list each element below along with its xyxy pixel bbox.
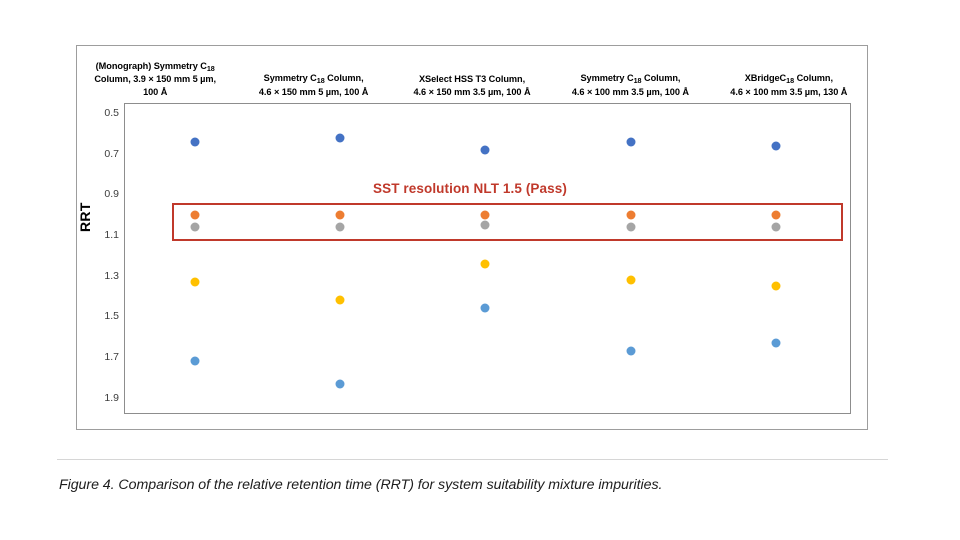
figure-caption: Figure 4. Comparison of the relative ret… — [59, 477, 889, 493]
column-headers: (Monograph) Symmetry C18Column, 3.9 × 15… — [76, 52, 868, 98]
column-header-2: Symmetry C18 Column,4.6 × 150 mm 5 µm, 1… — [234, 72, 392, 98]
column-header-3: XSelect HSS T3 Column,4.6 × 150 mm 3.5 µ… — [393, 73, 551, 98]
data-point — [626, 346, 635, 355]
sst-pass-label: SST resolution NLT 1.5 (Pass) — [373, 181, 567, 196]
y-tick-label: 1.5 — [80, 310, 124, 322]
column-header-5: XBridgeC18 Column,4.6 × 100 mm 3.5 µm, 1… — [710, 72, 868, 98]
sst-pass-box — [172, 203, 843, 242]
y-tick-label: 1.3 — [80, 270, 124, 282]
y-tick-label: 0.5 — [80, 107, 124, 119]
data-point — [190, 277, 199, 286]
data-point — [481, 145, 490, 154]
data-point — [481, 259, 490, 268]
y-tick-label: 0.9 — [80, 188, 124, 200]
data-point — [335, 379, 344, 388]
data-point — [190, 137, 199, 146]
data-point — [190, 357, 199, 366]
figure-divider — [57, 459, 888, 460]
y-axis-title: RRT — [77, 202, 93, 232]
data-point — [772, 281, 781, 290]
data-point — [335, 296, 344, 305]
data-point — [772, 338, 781, 347]
data-point — [772, 141, 781, 150]
y-tick-label: 1.7 — [80, 351, 124, 363]
column-header-4: Symmetry C18 Column,4.6 × 100 mm 3.5 µm,… — [551, 72, 709, 98]
y-tick-label: 0.7 — [80, 148, 124, 160]
data-point — [335, 133, 344, 142]
data-point — [626, 137, 635, 146]
data-point — [481, 304, 490, 313]
data-point — [626, 275, 635, 284]
y-tick-label: 1.9 — [80, 392, 124, 404]
